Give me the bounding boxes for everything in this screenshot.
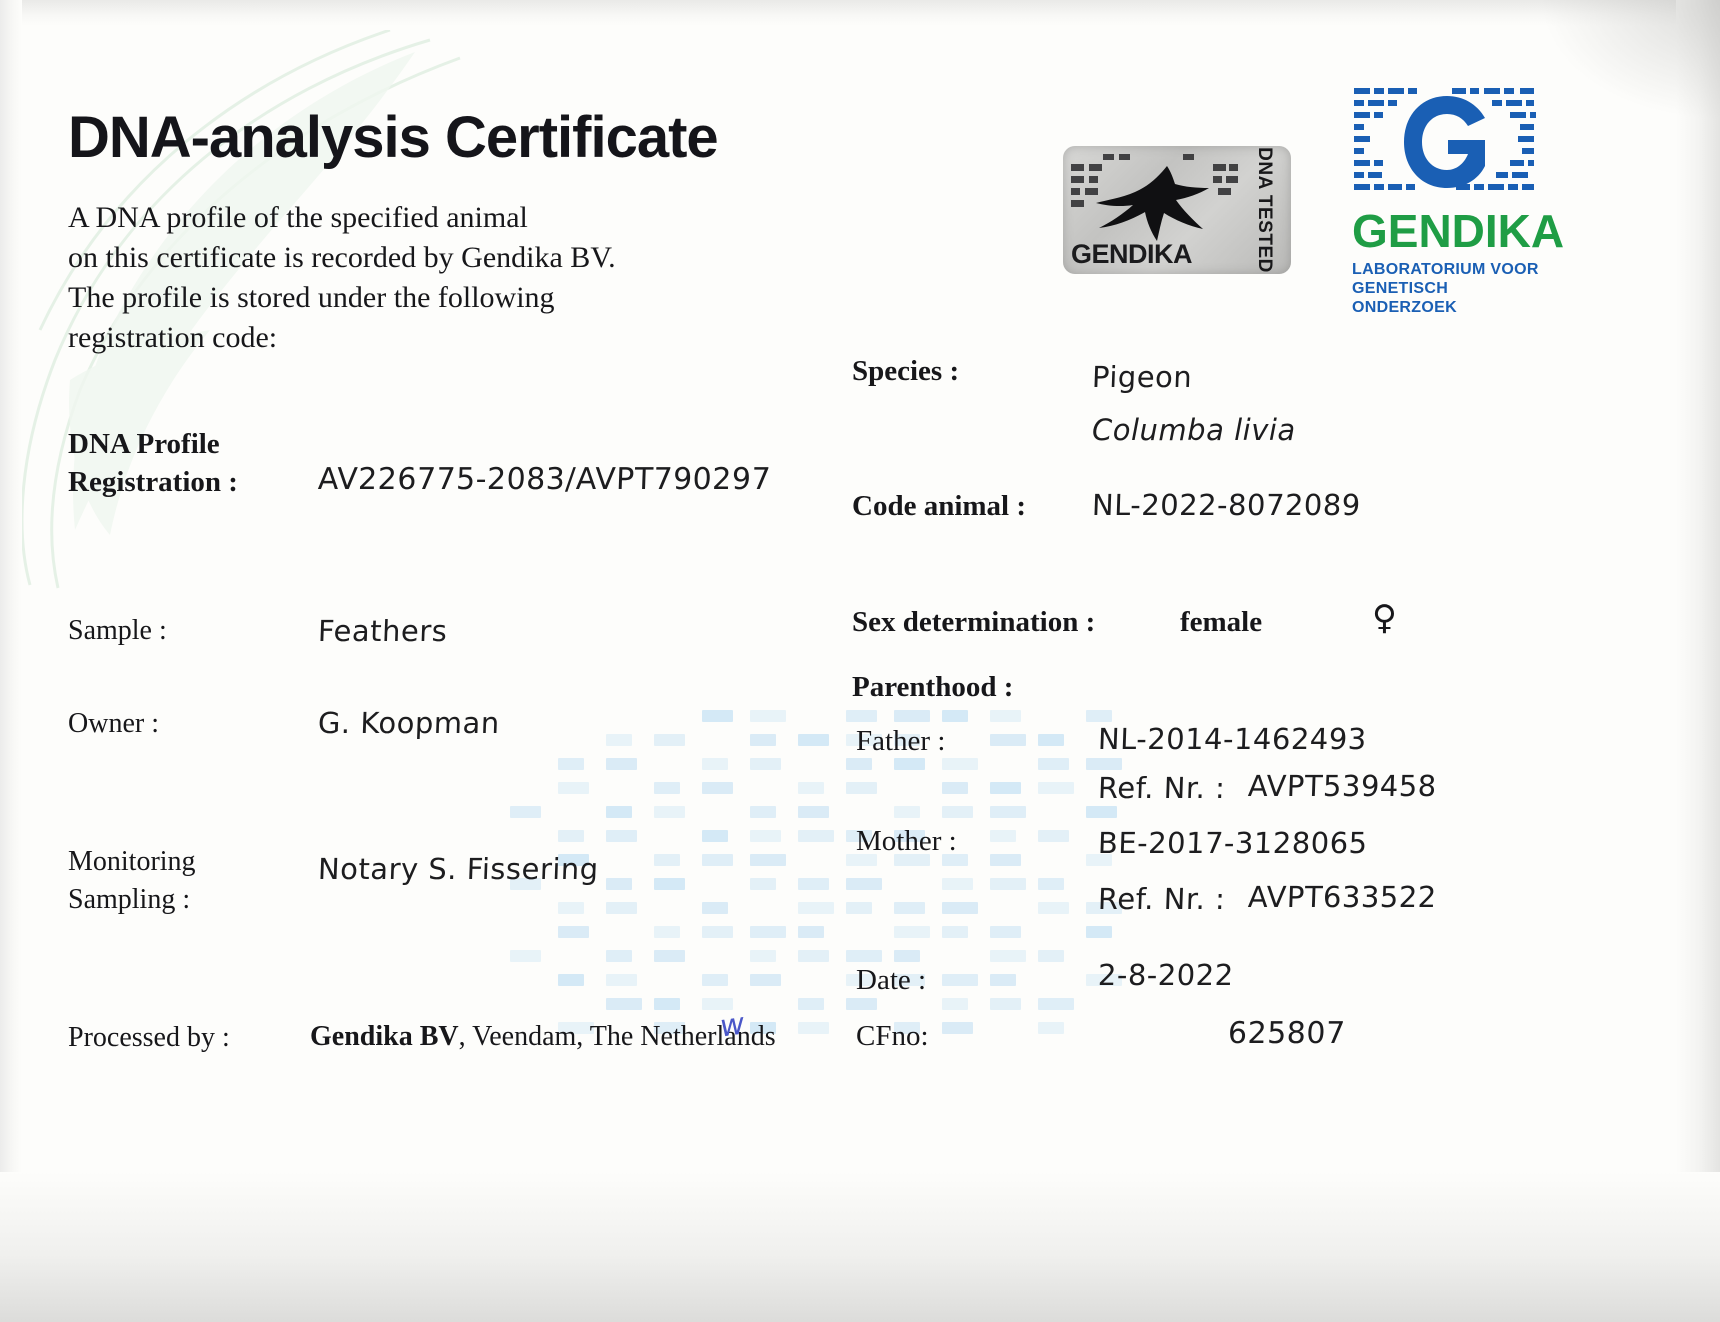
processed-by-company: Gendika BV (310, 1021, 459, 1052)
gel-band (1086, 926, 1112, 938)
gel-band (702, 710, 733, 722)
gel-band (702, 854, 733, 866)
gel-band (942, 782, 968, 794)
father-label: Father : (856, 725, 945, 758)
gel-band (990, 974, 1016, 986)
tagline-line-2: GENETISCH ONDERZOEK (1352, 279, 1542, 317)
gel-band (606, 734, 632, 746)
gel-band (798, 902, 834, 914)
intro-line-1: A DNA profile of the specified animal (68, 198, 768, 238)
page-title: DNA-analysis Certificate (68, 104, 718, 171)
gel-band (750, 758, 781, 770)
stamp-side-label: DNA TESTED (1241, 146, 1287, 274)
gel-band (702, 926, 733, 938)
processed-by-label: Processed by : (68, 1022, 230, 1054)
gel-band (846, 998, 877, 1010)
gel-band (750, 974, 781, 986)
gel-band (990, 782, 1021, 794)
cfno-value: 625807 (1227, 1016, 1346, 1051)
owner-label: Owner : (68, 708, 159, 740)
gendika-logo: GENDIKA LABORATORIUM VOOR GENETISCH ONDE… (1352, 82, 1542, 317)
father-ref-label: Ref. Nr. : (1097, 771, 1226, 805)
certificate-page: DNA-analysis Certificate A DNA profile o… (0, 0, 1720, 1322)
gel-band (558, 902, 584, 914)
gel-band (798, 806, 829, 818)
gel-band (510, 806, 541, 818)
gel-band (942, 1022, 973, 1034)
gel-band (606, 878, 632, 890)
stamp-brand-label: GENDIKA (1071, 239, 1192, 270)
gel-band (702, 830, 728, 842)
intro-line-2: on this certificate is recorded by Gendi… (68, 238, 768, 278)
gel-band (846, 902, 872, 914)
cfno-label: CFno: (856, 1020, 929, 1053)
species-common-name-value: Pigeon (1091, 360, 1192, 394)
gel-band (846, 950, 882, 962)
tagline-line-1: LABORATORIUM VOOR (1352, 260, 1542, 279)
gel-band (1038, 782, 1074, 794)
dna-gel-background-pattern (510, 710, 1150, 1060)
gel-band (846, 758, 872, 770)
gel-band (798, 950, 829, 962)
gel-band (1038, 902, 1069, 914)
monitoring-sampling-value: Notary S. Fissering (317, 852, 599, 886)
female-symbol-icon: ♀ (1372, 598, 1397, 638)
gel-band (990, 734, 1026, 746)
gel-band (654, 734, 685, 746)
dna-profile-registration-label: Registration : (68, 466, 238, 499)
gendika-tagline: LABORATORIUM VOOR GENETISCH ONDERZOEK (1352, 260, 1542, 317)
gel-band (990, 998, 1021, 1010)
gel-band (990, 830, 1016, 842)
father-ref-value: AVPT539458 (1247, 769, 1437, 803)
gel-band (558, 758, 584, 770)
gel-band (990, 926, 1021, 938)
gel-band (894, 902, 925, 914)
date-label: Date : (856, 964, 926, 997)
gel-band (846, 710, 877, 722)
gel-band (654, 878, 685, 890)
gel-band (654, 998, 680, 1010)
gel-band (702, 974, 728, 986)
gel-band (558, 830, 584, 842)
gel-band (942, 926, 968, 938)
gel-band (990, 806, 1026, 818)
gel-band (750, 926, 786, 938)
gel-band (798, 830, 834, 842)
gel-band (702, 758, 728, 770)
gel-band (942, 710, 968, 722)
monitoring-label-line1: Monitoring (68, 846, 196, 878)
gel-band (990, 710, 1021, 722)
gel-band (750, 950, 776, 962)
gel-band (798, 734, 829, 746)
gel-band (846, 782, 877, 794)
gel-band (1038, 998, 1074, 1010)
gel-band (750, 830, 781, 842)
gel-band (606, 974, 637, 986)
gel-band (942, 758, 978, 770)
gel-band (606, 902, 637, 914)
gel-band (750, 806, 776, 818)
gel-band (990, 854, 1021, 866)
gel-band (558, 974, 584, 986)
gendika-g-mark-icon (1352, 82, 1542, 204)
gel-band (558, 782, 589, 794)
gel-band (942, 998, 968, 1010)
scan-edge-left (0, 0, 22, 1322)
gel-band (654, 926, 680, 938)
parenthood-label: Parenthood : (852, 671, 1013, 704)
signature-initial-mark: w (719, 1006, 745, 1045)
gel-band (942, 974, 978, 986)
scan-edge-top (0, 0, 1720, 26)
gel-band (750, 734, 776, 746)
gel-band (894, 806, 920, 818)
gel-band (798, 926, 824, 938)
sex-determination-label: Sex determination : (852, 606, 1095, 639)
gel-band (942, 806, 973, 818)
gel-band (1038, 758, 1069, 770)
gel-band (702, 782, 733, 794)
sample-label: Sample : (68, 615, 167, 647)
gel-band (1038, 1022, 1064, 1034)
code-animal-label: Code animal : (852, 490, 1026, 523)
gel-band (990, 878, 1026, 890)
intro-paragraph: A DNA profile of the specified animal on… (68, 198, 768, 358)
gel-band (798, 998, 824, 1010)
gel-band (750, 854, 786, 866)
gel-band (798, 782, 824, 794)
species-latin-name-value: Columba livia (1092, 413, 1296, 447)
gel-band (654, 854, 680, 866)
gel-band (606, 830, 637, 842)
gel-band (606, 806, 632, 818)
monitoring-sampling-label: Sampling : (68, 884, 190, 916)
date-value: 2-8-2022 (1097, 958, 1234, 992)
gel-band (1086, 758, 1122, 770)
dna-profile-label-line1: DNA Profile (68, 428, 220, 461)
mother-value: BE-2017-3128065 (1097, 826, 1368, 860)
scan-edge-right (1676, 0, 1720, 1322)
mother-label: Mother : (856, 825, 957, 858)
gel-band (990, 950, 1026, 962)
gel-band (798, 878, 829, 890)
gendika-wordmark: GENDIKA (1352, 206, 1542, 256)
scan-edge-bottom (0, 1172, 1720, 1322)
owner-value: G. Koopman (317, 706, 500, 740)
gel-band (606, 998, 642, 1010)
species-label: Species : (852, 355, 959, 388)
father-value: NL-2014-1462493 (1097, 722, 1367, 756)
gel-band (1086, 710, 1112, 722)
gel-band (1038, 830, 1069, 842)
code-animal-value: NL-2022-8072089 (1091, 488, 1361, 522)
gel-band (1038, 734, 1064, 746)
gel-band (894, 926, 930, 938)
gel-band (894, 710, 930, 722)
gel-band (942, 878, 973, 890)
gel-band (750, 710, 786, 722)
gel-band (942, 902, 978, 914)
gel-band (894, 950, 920, 962)
gel-band (750, 878, 776, 890)
gel-band (654, 782, 680, 794)
page-corner-shadow (1540, 0, 1720, 120)
dna-tested-text: DNA TESTED (1253, 147, 1275, 273)
gel-band (606, 950, 632, 962)
gel-band (510, 950, 541, 962)
mother-ref-label: Ref. Nr. : (1097, 882, 1226, 916)
dna-tested-stamp: GENDIKA DNA TESTED (1063, 146, 1291, 274)
gel-band (846, 878, 882, 890)
sex-determination-value: female (1180, 606, 1262, 639)
gel-band (798, 1022, 829, 1034)
intro-line-4: registration code: (68, 318, 768, 358)
processed-by-value: Gendika BV, Veendam, The Netherlands (310, 1021, 776, 1053)
gel-band (1038, 950, 1064, 962)
gel-band (1086, 806, 1117, 818)
intro-line-3: The profile is stored under the followin… (68, 278, 768, 318)
gel-band (654, 950, 685, 962)
gel-band (1038, 878, 1064, 890)
gel-band (558, 926, 589, 938)
sample-value: Feathers (317, 614, 448, 648)
gel-band (654, 806, 685, 818)
gel-band (606, 758, 637, 770)
mother-ref-value: AVPT633522 (1247, 880, 1437, 914)
gel-band (894, 758, 925, 770)
dna-profile-registration-value: AV226775-2083/AVPT790297 (317, 462, 771, 497)
gel-band (702, 902, 728, 914)
